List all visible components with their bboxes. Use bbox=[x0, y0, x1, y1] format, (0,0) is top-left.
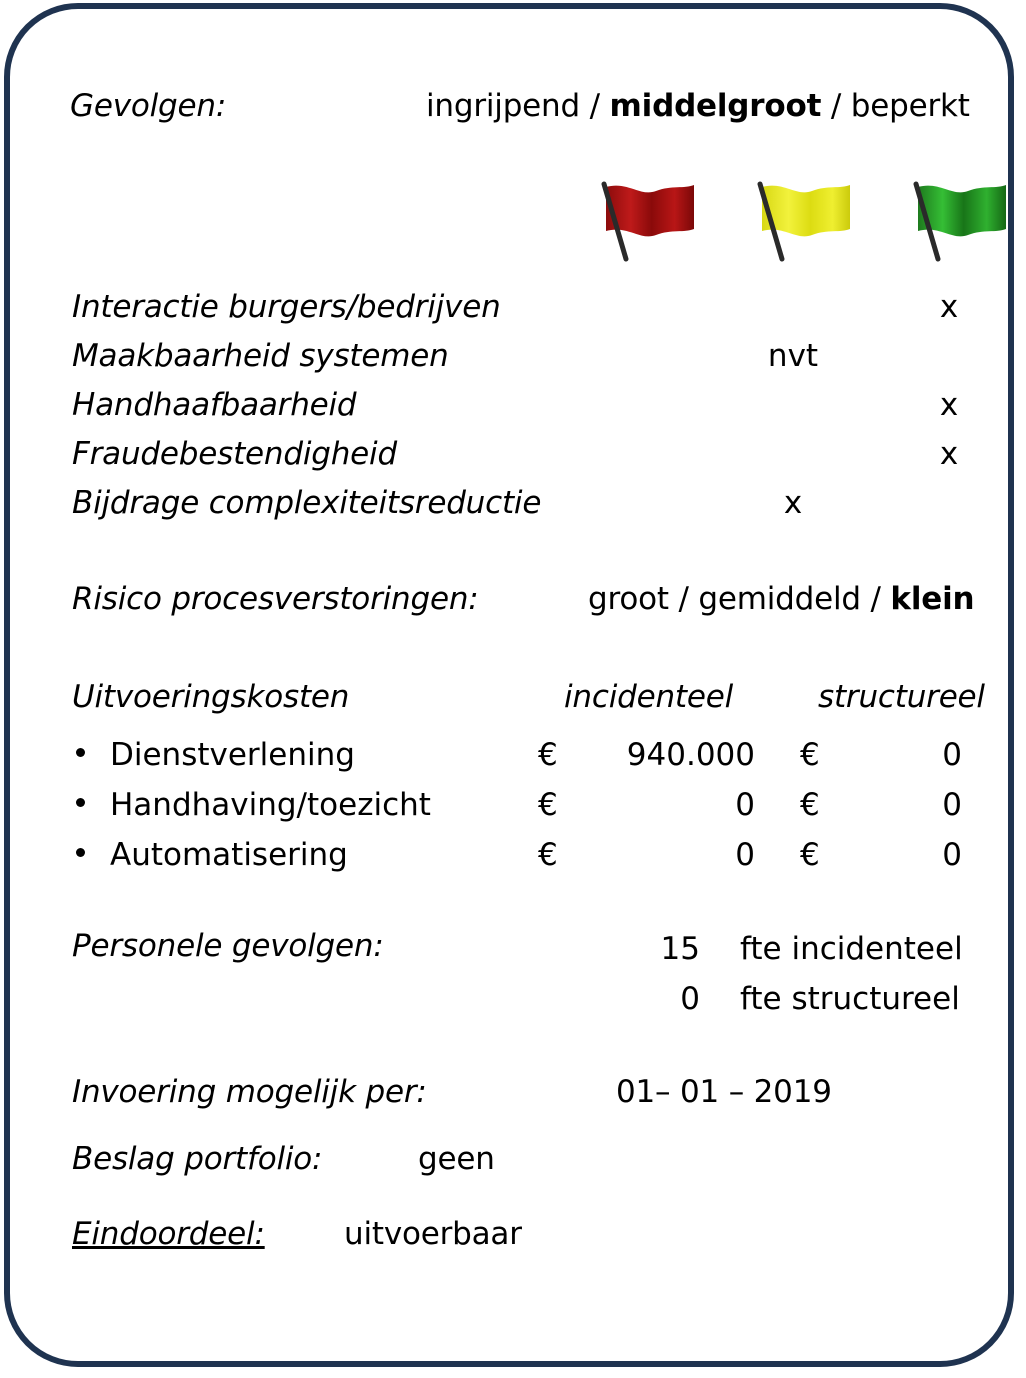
gevolgen-option-beperkt: / beperkt bbox=[821, 88, 970, 124]
invoering-date-value: 01– 01 – 2019 bbox=[616, 1077, 832, 1108]
kosten-header-structureel: structureel bbox=[818, 682, 985, 713]
cost-label: Dienstverlening bbox=[110, 737, 355, 773]
euro-icon-structureel: € bbox=[800, 837, 820, 873]
impact-assessment-card: Gevolgen: ingrijpend / middelgroot / bep… bbox=[4, 3, 1014, 1367]
gevolgen-option-middelgroot-selected: middelgroot bbox=[610, 88, 822, 124]
criteria-row-complexiteitsreductie: Bijdrage complexiteitsreductie x bbox=[10, 485, 1008, 533]
cost-label: Handhaving/toezicht bbox=[110, 787, 431, 823]
personele-gevolgen-label: Personele gevolgen: bbox=[72, 931, 384, 962]
cost-incidenteel: 0 bbox=[570, 837, 755, 873]
bullet-icon bbox=[76, 798, 85, 807]
criteria-label: Handhaafbaarheid bbox=[72, 387, 356, 423]
cost-structureel: 0 bbox=[832, 737, 962, 773]
personele-unit-incidenteel: fte incidenteel bbox=[740, 931, 963, 967]
personele-unit-structureel: fte structureel bbox=[740, 981, 960, 1017]
cost-incidenteel: 0 bbox=[570, 787, 755, 823]
euro-icon-incidenteel: € bbox=[538, 737, 558, 773]
uitvoeringskosten-title: Uitvoeringskosten bbox=[72, 682, 349, 713]
beslag-portfolio-value: geen bbox=[418, 1144, 495, 1175]
risico-options: groot / gemiddeld / bbox=[588, 581, 890, 617]
personele-value-incidenteel: 15 bbox=[600, 931, 700, 967]
gevolgen-value: ingrijpend / middelgroot / beperkt bbox=[426, 91, 970, 122]
criteria-row-interactie: Interactie burgers/bedrijven x bbox=[10, 289, 1008, 337]
criteria-mark-green: x bbox=[904, 289, 994, 325]
criteria-row-fraudebestendigheid: Fraudebestendigheid x bbox=[10, 436, 1008, 484]
euro-icon-structureel: € bbox=[800, 787, 820, 823]
cost-row-automatisering: Automatisering € 0 € 0 bbox=[10, 837, 1008, 887]
criteria-row-maakbaarheid: Maakbaarheid systemen nvt bbox=[10, 338, 1008, 386]
criteria-mark-yellow: nvt bbox=[748, 338, 838, 374]
criteria-mark-yellow: x bbox=[748, 485, 838, 521]
eindoordeel-label: Eindoordeel: bbox=[72, 1219, 265, 1250]
criteria-mark-green: x bbox=[904, 436, 994, 472]
green-flag-icon bbox=[908, 181, 1012, 267]
gevolgen-label: Gevolgen: bbox=[70, 91, 226, 122]
criteria-label: Bijdrage complexiteitsreductie bbox=[72, 485, 541, 521]
risico-value: groot / gemiddeld / klein bbox=[588, 584, 974, 615]
criteria-mark-green: x bbox=[904, 387, 994, 423]
criteria-label: Fraudebestendigheid bbox=[72, 436, 397, 472]
yellow-flag-icon bbox=[752, 181, 856, 267]
euro-icon-incidenteel: € bbox=[538, 787, 558, 823]
bullet-icon bbox=[76, 848, 85, 857]
criteria-row-handhaafbaarheid: Handhaafbaarheid x bbox=[10, 387, 1008, 435]
eindoordeel-value: uitvoerbaar bbox=[344, 1219, 522, 1250]
risico-label: Risico procesverstoringen: bbox=[72, 584, 479, 615]
red-flag-icon bbox=[596, 181, 700, 267]
euro-icon-structureel: € bbox=[800, 737, 820, 773]
cost-row-dienstverlening: Dienstverlening € 940.000 € 0 bbox=[10, 737, 1008, 787]
beslag-portfolio-label: Beslag portfolio: bbox=[72, 1144, 322, 1175]
cost-structureel: 0 bbox=[832, 837, 962, 873]
risico-option-klein-selected: klein bbox=[890, 581, 974, 617]
cost-row-handhaving-toezicht: Handhaving/toezicht € 0 € 0 bbox=[10, 787, 1008, 837]
kosten-header-incidenteel: incidenteel bbox=[564, 682, 733, 713]
euro-icon-incidenteel: € bbox=[538, 837, 558, 873]
cost-incidenteel: 940.000 bbox=[570, 737, 755, 773]
personele-value-structureel: 0 bbox=[600, 981, 700, 1017]
bullet-icon bbox=[76, 748, 85, 757]
gevolgen-option-ingrijpend: ingrijpend / bbox=[426, 88, 610, 124]
invoering-label: Invoering mogelijk per: bbox=[72, 1077, 427, 1108]
cost-structureel: 0 bbox=[832, 787, 962, 823]
criteria-label: Interactie burgers/bedrijven bbox=[72, 289, 501, 325]
cost-label: Automatisering bbox=[110, 837, 348, 873]
criteria-label: Maakbaarheid systemen bbox=[72, 338, 449, 374]
